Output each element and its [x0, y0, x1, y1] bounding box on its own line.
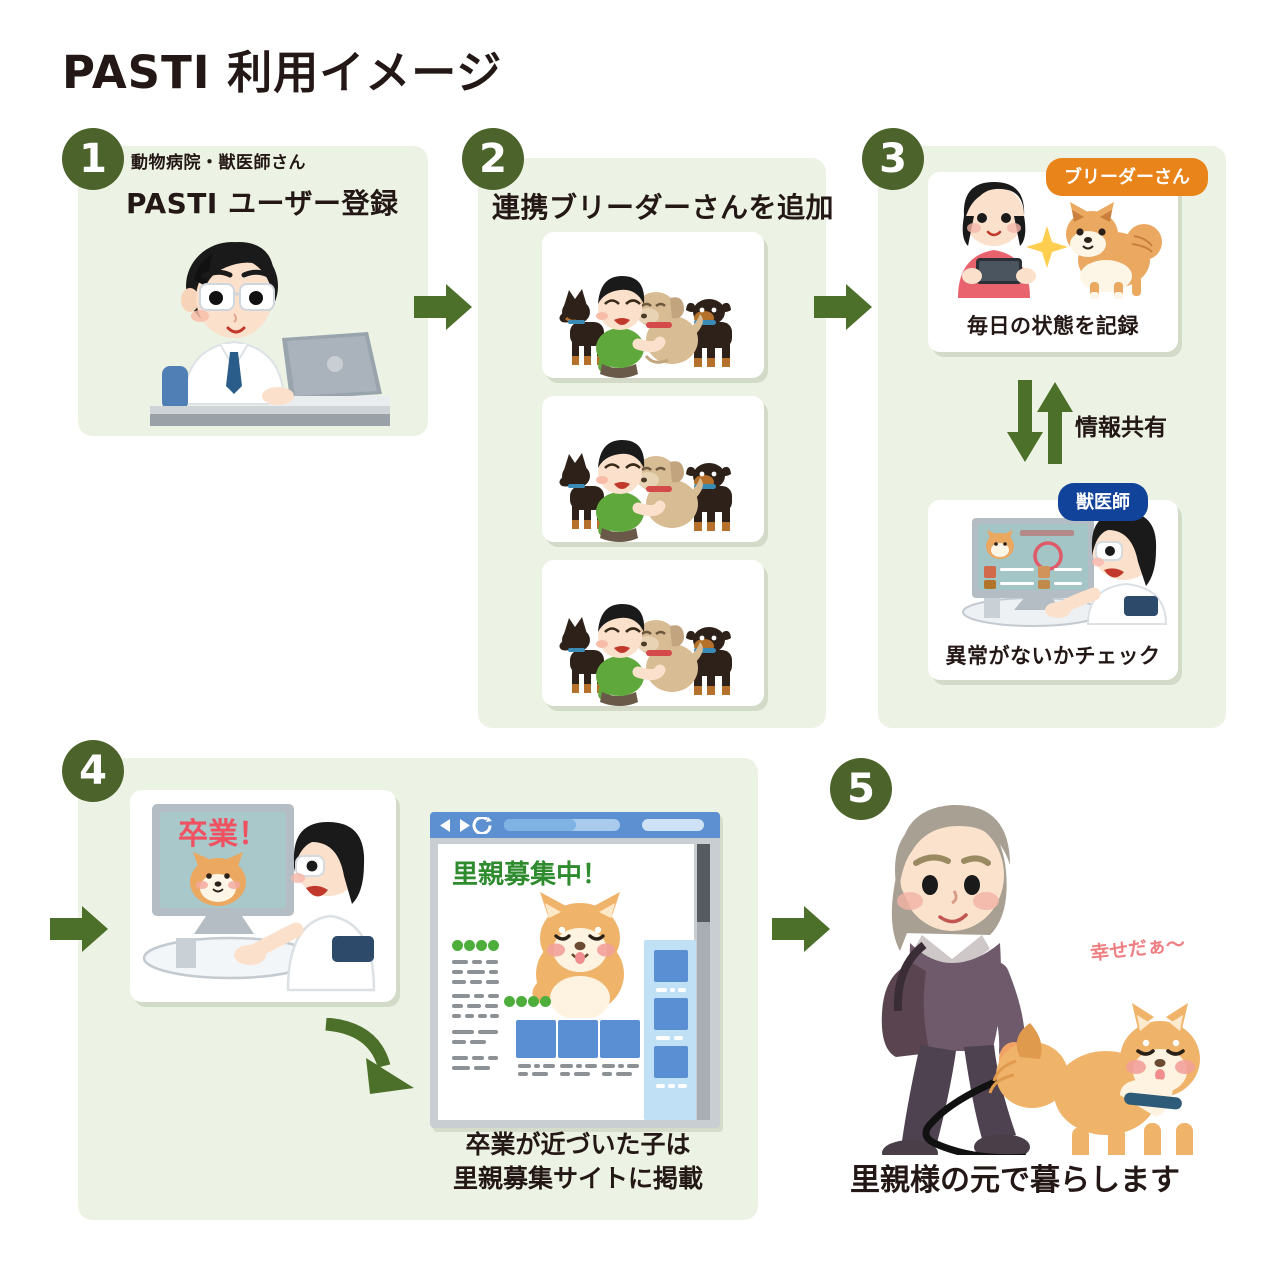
- text-line: [452, 1030, 474, 1034]
- badge-breeder: ブリーダーさん: [1046, 158, 1208, 196]
- step-2-headline: 連携ブリーダーさんを追加: [492, 186, 834, 226]
- page-title: PASTI 利用イメージ: [62, 36, 502, 101]
- text-line: [670, 988, 675, 992]
- arrow-card-to-browser: [318, 1018, 438, 1098]
- breeder-record-card[interactable]: 毎日の状態を記録: [928, 172, 1178, 352]
- text-line: [656, 988, 667, 992]
- thumbnail[interactable]: [558, 1020, 598, 1058]
- text-line: [452, 980, 466, 984]
- text-line: [470, 1040, 486, 1044]
- text-line: [452, 970, 463, 974]
- step-4-caption-line1: 卒業が近づいた子は: [418, 1128, 738, 1162]
- thumbnail[interactable]: [516, 1020, 556, 1058]
- text-line: [467, 970, 485, 974]
- text-line: [656, 1036, 670, 1040]
- text-line: [474, 994, 484, 998]
- text-line: [452, 1056, 468, 1060]
- text-line: [560, 1072, 570, 1076]
- forward-icon: [460, 819, 470, 832]
- text-line: [618, 1064, 624, 1068]
- text-line: [486, 960, 498, 964]
- thumbnail[interactable]: [600, 1020, 640, 1058]
- text-line: [452, 994, 470, 998]
- adoption-site-browser[interactable]: 里親募集中！: [430, 812, 720, 1128]
- monitor-graduation-text: 卒業！: [178, 817, 268, 852]
- vet-checks-monitor-illustration: [928, 500, 1178, 630]
- text-line: [602, 1064, 615, 1068]
- text-line: [488, 1056, 498, 1060]
- text-line: [543, 1064, 555, 1068]
- text-line: [488, 994, 499, 998]
- text-line: [668, 1084, 675, 1088]
- text-line: [485, 1004, 498, 1008]
- text-line: [489, 970, 498, 974]
- sidebar-thumbnail[interactable]: [654, 950, 688, 982]
- text-line: [534, 1064, 540, 1068]
- back-icon: [440, 819, 450, 832]
- breeder-with-dogs-illustration: [542, 232, 764, 378]
- text-line: [467, 1004, 481, 1008]
- text-line: [486, 980, 499, 984]
- text-line: [452, 960, 468, 964]
- text-line: [452, 1014, 461, 1018]
- text-line: [452, 1040, 466, 1044]
- arrow-step1-to-step2: [412, 282, 474, 332]
- browser-page: 里親募集中！: [438, 844, 694, 1120]
- text-line: [470, 980, 482, 984]
- step-4-caption-line2: 里親募集サイトに掲載: [418, 1162, 738, 1196]
- step-4-caption: 卒業が近づいた子は 里親募集サイトに掲載: [418, 1128, 738, 1196]
- breeder-with-dogs-illustration: [542, 396, 764, 542]
- text-line: [452, 1004, 463, 1008]
- step-3-caption-top: 毎日の状態を記録: [928, 310, 1178, 340]
- graduation-monitor-card[interactable]: 卒業！: [130, 790, 396, 1002]
- site-tag-dots: [452, 940, 499, 951]
- text-line: [518, 1064, 531, 1068]
- step-3-number: 3: [862, 128, 924, 190]
- text-line: [674, 1036, 683, 1040]
- text-line: [678, 1084, 687, 1088]
- badge-vet: 獣医師: [1058, 483, 1148, 521]
- text-line: [474, 1066, 490, 1070]
- text-line: [452, 1066, 470, 1070]
- text-line: [656, 1084, 665, 1088]
- text-line: [585, 1064, 597, 1068]
- step-2-number: 2: [462, 128, 524, 190]
- search-bar[interactable]: [642, 819, 704, 831]
- text-line: [627, 1064, 639, 1068]
- text-line: [678, 988, 686, 992]
- arrow-step4-to-step5: [770, 904, 832, 954]
- text-line: [616, 1072, 632, 1076]
- text-line: [574, 1072, 590, 1076]
- step-5-number: 5: [830, 758, 892, 820]
- step-3-caption-bottom: 異常がないかチェック: [928, 640, 1178, 670]
- text-line: [532, 1072, 548, 1076]
- browser-nav-icons[interactable]: [438, 817, 500, 834]
- text-line: [490, 1014, 499, 1018]
- text-line: [478, 1014, 487, 1018]
- site-headline: 里親募集中！: [452, 854, 608, 891]
- vet-check-card[interactable]: 異常がないかチェック: [928, 500, 1178, 680]
- info-share-arrows: [1000, 380, 1080, 464]
- owner-walking-dog-illustration: [860, 775, 1230, 1155]
- arrow-step2-to-step3: [812, 282, 874, 332]
- breeder-card[interactable]: [542, 232, 764, 378]
- step-4-number: 4: [62, 740, 124, 802]
- text-line: [472, 960, 482, 964]
- arrow-step3-to-step4: [48, 904, 110, 954]
- step-1-headline: PASTI ユーザー登録: [126, 182, 399, 222]
- infographic-root: PASTI 利用イメージ 1 動物病院・獣医師さん PASTI ユーザー登録: [0, 0, 1263, 1261]
- vet-sees-graduation-illustration: 卒業！: [130, 790, 396, 1002]
- text-line: [602, 1072, 612, 1076]
- text-line: [465, 1014, 474, 1018]
- sidebar-thumbnail[interactable]: [654, 1046, 688, 1078]
- step-1-number: 1: [62, 128, 124, 190]
- breeder-card[interactable]: [542, 396, 764, 542]
- step-1-sublabel: 動物病院・獣医師さん: [131, 148, 306, 173]
- step-5-caption: 里親様の元で暮らします: [800, 1155, 1230, 1199]
- doctor-at-laptop-illustration: [150, 228, 390, 428]
- site-tag-dots-2: [504, 996, 551, 1007]
- breeder-card[interactable]: [542, 560, 764, 706]
- text-line: [518, 1072, 528, 1076]
- text-line: [576, 1064, 582, 1068]
- text-line: [472, 1056, 484, 1060]
- sidebar-thumbnail[interactable]: [654, 998, 688, 1030]
- breeder-with-dogs-illustration: [542, 560, 764, 706]
- scrollbar-thumb[interactable]: [697, 844, 710, 922]
- info-share-label: 情報共有: [1075, 408, 1167, 442]
- address-bar-progress: [504, 819, 576, 831]
- text-line: [560, 1064, 573, 1068]
- text-line: [478, 1030, 498, 1034]
